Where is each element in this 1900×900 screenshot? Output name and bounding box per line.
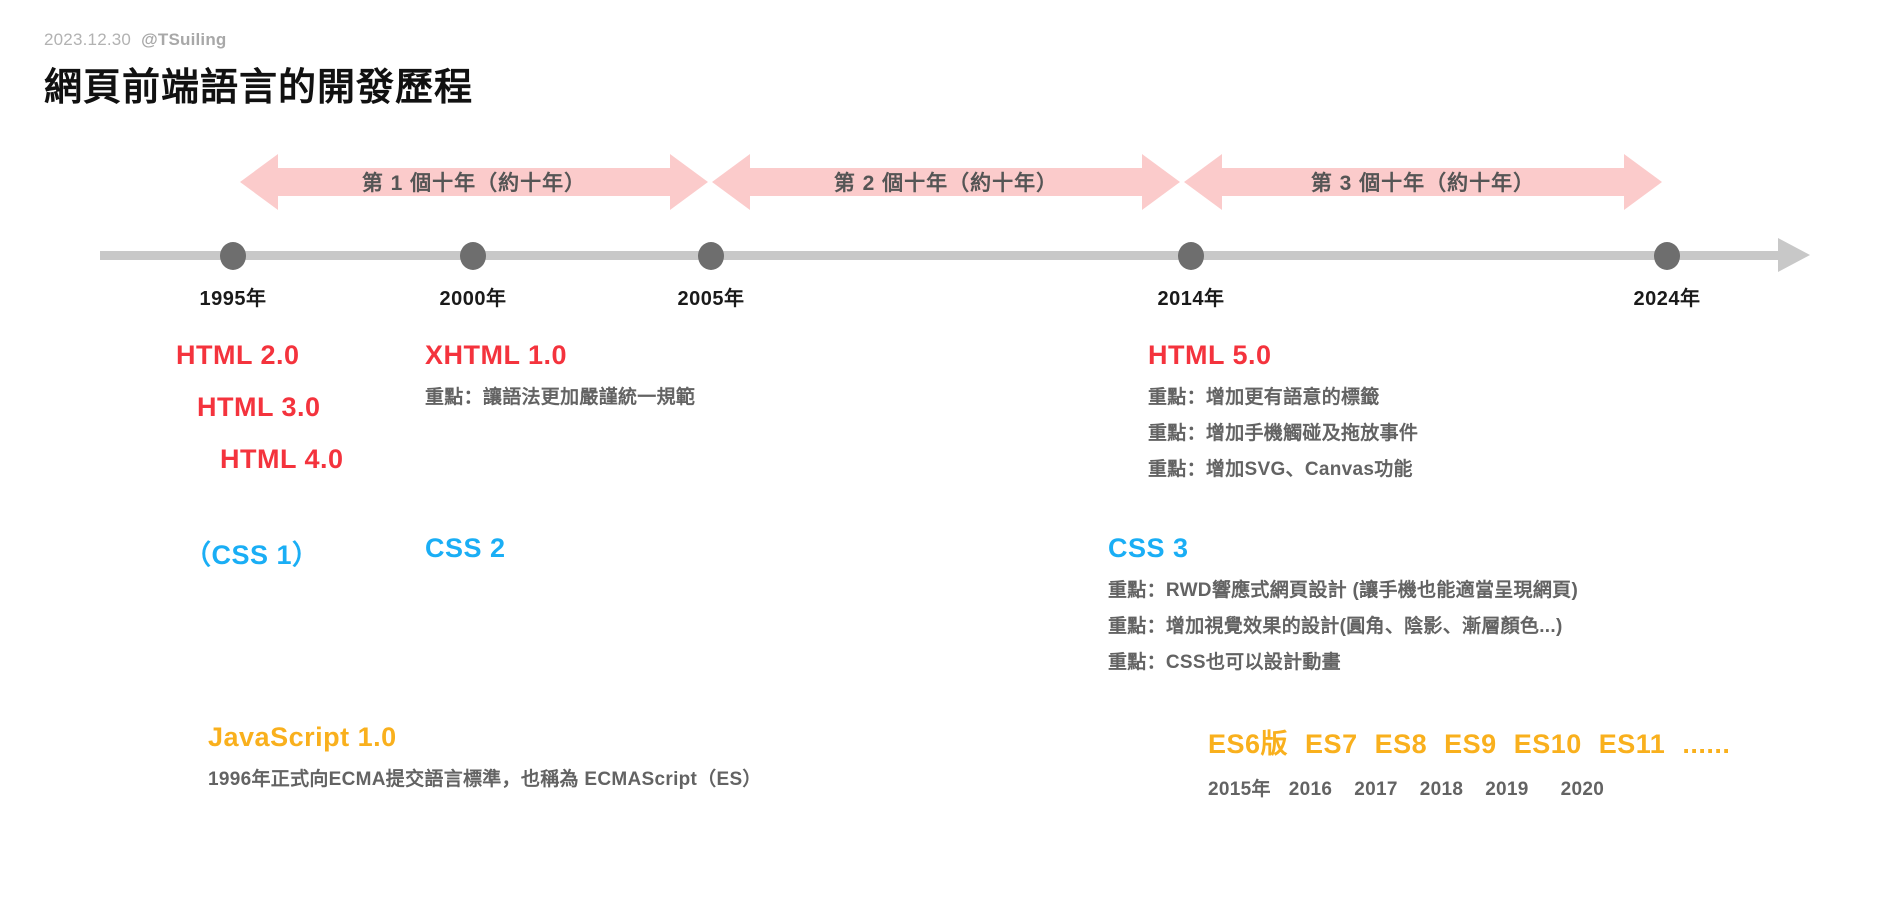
html5-note-2: 重點：增加手機觸碰及拖放事件 <box>1148 418 1418 445</box>
css1-title: （CSS 1） <box>184 533 320 572</box>
xhtml-group: XHTML 1.0 重點：讓語法更加嚴謹統一規範 <box>425 340 695 409</box>
ecmascript-year-es7: 2016 <box>1289 779 1332 801</box>
decade-arrow-2: 第 2 個十年（約十年） <box>712 152 1180 212</box>
decade-arrow-1-label: 第 1 個十年（約十年） <box>240 152 708 212</box>
ecmascript-version-row: ES6版 ES7 ES8 ES9 ES10 ES11 ...... <box>1208 722 1730 761</box>
decade-arrow-3-label: 第 3 個十年（約十年） <box>1184 152 1662 212</box>
timeline-axis-arrowhead-icon <box>1778 238 1810 272</box>
css1-group: （CSS 1） <box>184 533 320 572</box>
ecmascript-year-es10: 2019 <box>1485 779 1528 801</box>
timeline-year-label-2000: 2000年 <box>440 282 507 311</box>
page-header: 2023.12.30@TSuiling 網頁前端語言的開發歷程 <box>44 30 473 111</box>
ecmascript-year-es9: 2018 <box>1420 779 1463 801</box>
decade-arrow-2-label: 第 2 個十年（約十年） <box>712 152 1180 212</box>
html5-note-1: 重點：增加更有語意的標籤 <box>1148 382 1418 409</box>
timeline-year-label-2014: 2014年 <box>1158 282 1225 311</box>
css3-title: CSS 3 <box>1108 533 1578 564</box>
page-title: 網頁前端語言的開發歷程 <box>44 56 473 111</box>
timeline-year-label-1995: 1995年 <box>200 282 267 311</box>
html-version-3: HTML 3.0 <box>197 392 344 423</box>
author-handle: @TSuiling <box>141 30 226 49</box>
ecmascript-version-es9: ES9 <box>1444 729 1497 760</box>
decade-arrow-1: 第 1 個十年（約十年） <box>240 152 708 212</box>
timeline-dot-2024 <box>1654 242 1680 270</box>
timeline-dot-2014 <box>1178 242 1204 270</box>
javascript-note-1: 1996年正式向ECMA提交語言標準，也稱為 ECMAScript（ES） <box>208 764 762 791</box>
ecmascript-version-es6: ES6版 <box>1208 722 1288 761</box>
ecmascript-year-es11: 2020 <box>1561 779 1604 801</box>
timeline-dot-1995 <box>220 242 246 270</box>
ecmascript-year-es6: 2015年 <box>1208 774 1271 801</box>
html5-title: HTML 5.0 <box>1148 340 1418 371</box>
timeline-dot-2000 <box>460 242 486 270</box>
html-version-4: HTML 4.0 <box>220 444 344 475</box>
html5-note-3: 重點：增加SVG、Canvas功能 <box>1148 454 1418 481</box>
decade-arrow-3: 第 3 個十年（約十年） <box>1184 152 1662 212</box>
publish-date: 2023.12.30 <box>44 30 131 49</box>
javascript-group: JavaScript 1.0 1996年正式向ECMA提交語言標準，也稱為 EC… <box>208 722 762 791</box>
xhtml-title: XHTML 1.0 <box>425 340 695 371</box>
xhtml-note-1: 重點：讓語法更加嚴謹統一規範 <box>425 382 695 409</box>
ecmascript-year-row: 2015年 2016 2017 2018 2019 2020 <box>1208 774 1730 801</box>
html5-group: HTML 5.0 重點：增加更有語意的標籤 重點：增加手機觸碰及拖放事件 重點：… <box>1148 340 1418 481</box>
timeline-year-label-2024: 2024年 <box>1634 282 1701 311</box>
css3-group: CSS 3 重點：RWD響應式網頁設計 (讓手機也能適當呈現網頁) 重點：增加視… <box>1108 533 1578 674</box>
meta-line: 2023.12.30@TSuiling <box>44 30 473 50</box>
css3-note-2: 重點：增加視覺效果的設計(圓角、陰影、漸層顏色...) <box>1108 611 1578 638</box>
timeline-year-label-2005: 2005年 <box>678 282 745 311</box>
javascript-title: JavaScript 1.0 <box>208 722 762 753</box>
ecmascript-version-es11: ES11 <box>1599 729 1666 760</box>
css2-group: CSS 2 <box>425 533 506 564</box>
timeline-axis-line <box>100 251 1782 260</box>
ecmascript-version-es10: ES10 <box>1514 729 1582 760</box>
timeline-dot-2005 <box>698 242 724 270</box>
css2-title: CSS 2 <box>425 533 506 564</box>
ecmascript-version-es8: ES8 <box>1375 729 1428 760</box>
html-version-2: HTML 2.0 <box>176 340 344 371</box>
ecmascript-version-es7: ES7 <box>1305 729 1358 760</box>
ecmascript-year-es8: 2017 <box>1354 779 1397 801</box>
css3-note-1: 重點：RWD響應式網頁設計 (讓手機也能適當呈現網頁) <box>1108 575 1578 602</box>
ecmascript-group: ES6版 ES7 ES8 ES9 ES10 ES11 ...... 2015年 … <box>1208 722 1730 801</box>
html-early-versions-group: HTML 2.0 HTML 3.0 HTML 4.0 <box>176 340 344 475</box>
css3-note-3: 重點：CSS也可以設計動畫 <box>1108 647 1578 674</box>
ecmascript-version-ellipsis: ...... <box>1682 729 1730 760</box>
